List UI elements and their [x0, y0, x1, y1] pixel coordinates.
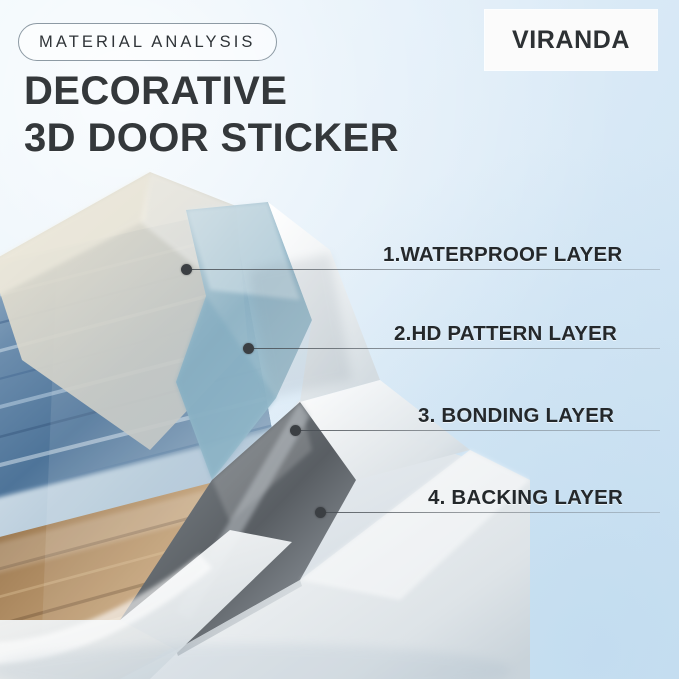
title-line-2: 3D DOOR STICKER — [24, 116, 399, 160]
title-line-1: DECORATIVE — [24, 69, 287, 113]
product-illustration — [0, 150, 530, 679]
brand-logo: VIRANDA — [485, 10, 657, 70]
badge-label: MATERIAL ANALYSIS — [39, 33, 256, 52]
brand-name: VIRANDA — [512, 26, 630, 55]
page-title: DECORATIVE3D DOOR STICKER — [24, 68, 399, 162]
badge-material-analysis: MATERIAL ANALYSIS — [18, 23, 277, 61]
infographic-canvas: MATERIAL ANALYSIS DECORATIVE3D DOOR STIC… — [0, 0, 679, 679]
